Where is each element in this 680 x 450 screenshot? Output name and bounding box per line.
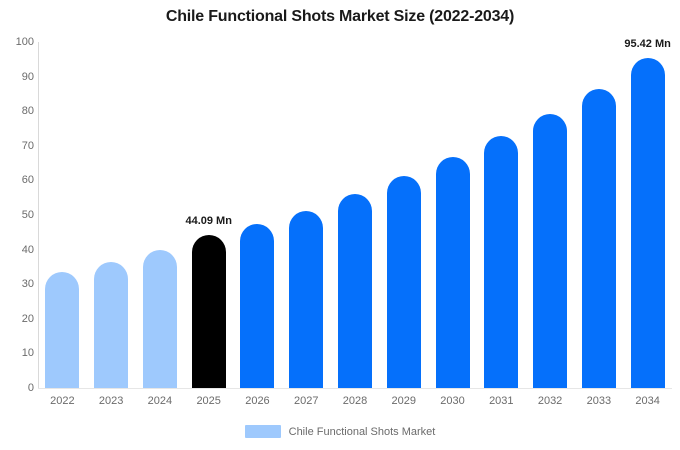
bar-2026[interactable] xyxy=(240,224,274,388)
x-tick-label-2024: 2024 xyxy=(136,395,185,407)
bar-value-label-2034: 95.42 Mn xyxy=(624,38,670,50)
bar-slot[interactable] xyxy=(94,42,128,388)
bar-slot[interactable] xyxy=(143,42,177,388)
bar-slot[interactable] xyxy=(484,42,518,388)
x-tick-label-2031: 2031 xyxy=(477,395,526,407)
y-tick-label: 100 xyxy=(4,36,34,48)
x-axis-baseline xyxy=(38,388,672,389)
x-tick-label-2022: 2022 xyxy=(38,395,87,407)
bar-slot[interactable] xyxy=(436,42,470,388)
bar-series: 44.09 Mn95.42 Mn xyxy=(38,42,672,388)
bar-2031[interactable] xyxy=(484,136,518,388)
y-tick-label: 60 xyxy=(4,174,34,186)
x-tick-label-2023: 2023 xyxy=(87,395,136,407)
bar-slot[interactable]: 44.09 Mn xyxy=(192,42,226,388)
y-tick-label: 80 xyxy=(4,105,34,117)
bar-value-label-2025: 44.09 Mn xyxy=(185,215,231,227)
legend-swatch-icon xyxy=(245,425,281,438)
y-tick-label: 50 xyxy=(4,209,34,221)
bar-slot[interactable]: 95.42 Mn xyxy=(631,42,665,388)
bar-2023[interactable] xyxy=(94,262,128,388)
bar-slot[interactable] xyxy=(338,42,372,388)
x-tick-label-2026: 2026 xyxy=(233,395,282,407)
bar-slot[interactable] xyxy=(533,42,567,388)
bar-slot[interactable] xyxy=(289,42,323,388)
x-tick-label-2033: 2033 xyxy=(574,395,623,407)
bar-2033[interactable] xyxy=(582,89,616,388)
bar-2029[interactable] xyxy=(387,176,421,388)
plot-area: 44.09 Mn95.42 Mn xyxy=(38,42,672,388)
y-tick-label: 0 xyxy=(4,382,34,394)
x-tick-label-2030: 2030 xyxy=(428,395,477,407)
bar-slot[interactable] xyxy=(240,42,274,388)
bar-2030[interactable] xyxy=(436,157,470,388)
chart-title: Chile Functional Shots Market Size (2022… xyxy=(0,8,680,26)
bar-2028[interactable] xyxy=(338,194,372,388)
x-tick-label-2025: 2025 xyxy=(184,395,233,407)
bar-2032[interactable] xyxy=(533,114,567,388)
chart-container: Chile Functional Shots Market Size (2022… xyxy=(0,0,680,450)
bar-slot[interactable] xyxy=(45,42,79,388)
x-tick-label-2028: 2028 xyxy=(331,395,380,407)
y-tick-label: 40 xyxy=(4,244,34,256)
y-axis-ticks: 0102030405060708090100 xyxy=(0,0,34,450)
bar-2027[interactable] xyxy=(289,211,323,388)
x-tick-label-2029: 2029 xyxy=(379,395,428,407)
bar-slot[interactable] xyxy=(582,42,616,388)
x-tick-label-2027: 2027 xyxy=(282,395,331,407)
bar-2034[interactable] xyxy=(631,58,665,388)
legend-label: Chile Functional Shots Market xyxy=(289,426,436,438)
x-axis-ticks: 2022202320242025202620272028202920302031… xyxy=(38,395,672,415)
y-tick-label: 70 xyxy=(4,140,34,152)
x-tick-label-2032: 2032 xyxy=(526,395,575,407)
y-tick-label: 30 xyxy=(4,278,34,290)
bar-2025[interactable] xyxy=(192,235,226,388)
chart-legend: Chile Functional Shots Market xyxy=(0,425,680,438)
bar-2022[interactable] xyxy=(45,272,79,388)
y-tick-label: 20 xyxy=(4,313,34,325)
bar-slot[interactable] xyxy=(387,42,421,388)
bar-2024[interactable] xyxy=(143,250,177,388)
y-tick-label: 90 xyxy=(4,71,34,83)
x-tick-label-2034: 2034 xyxy=(623,395,672,407)
y-tick-label: 10 xyxy=(4,347,34,359)
